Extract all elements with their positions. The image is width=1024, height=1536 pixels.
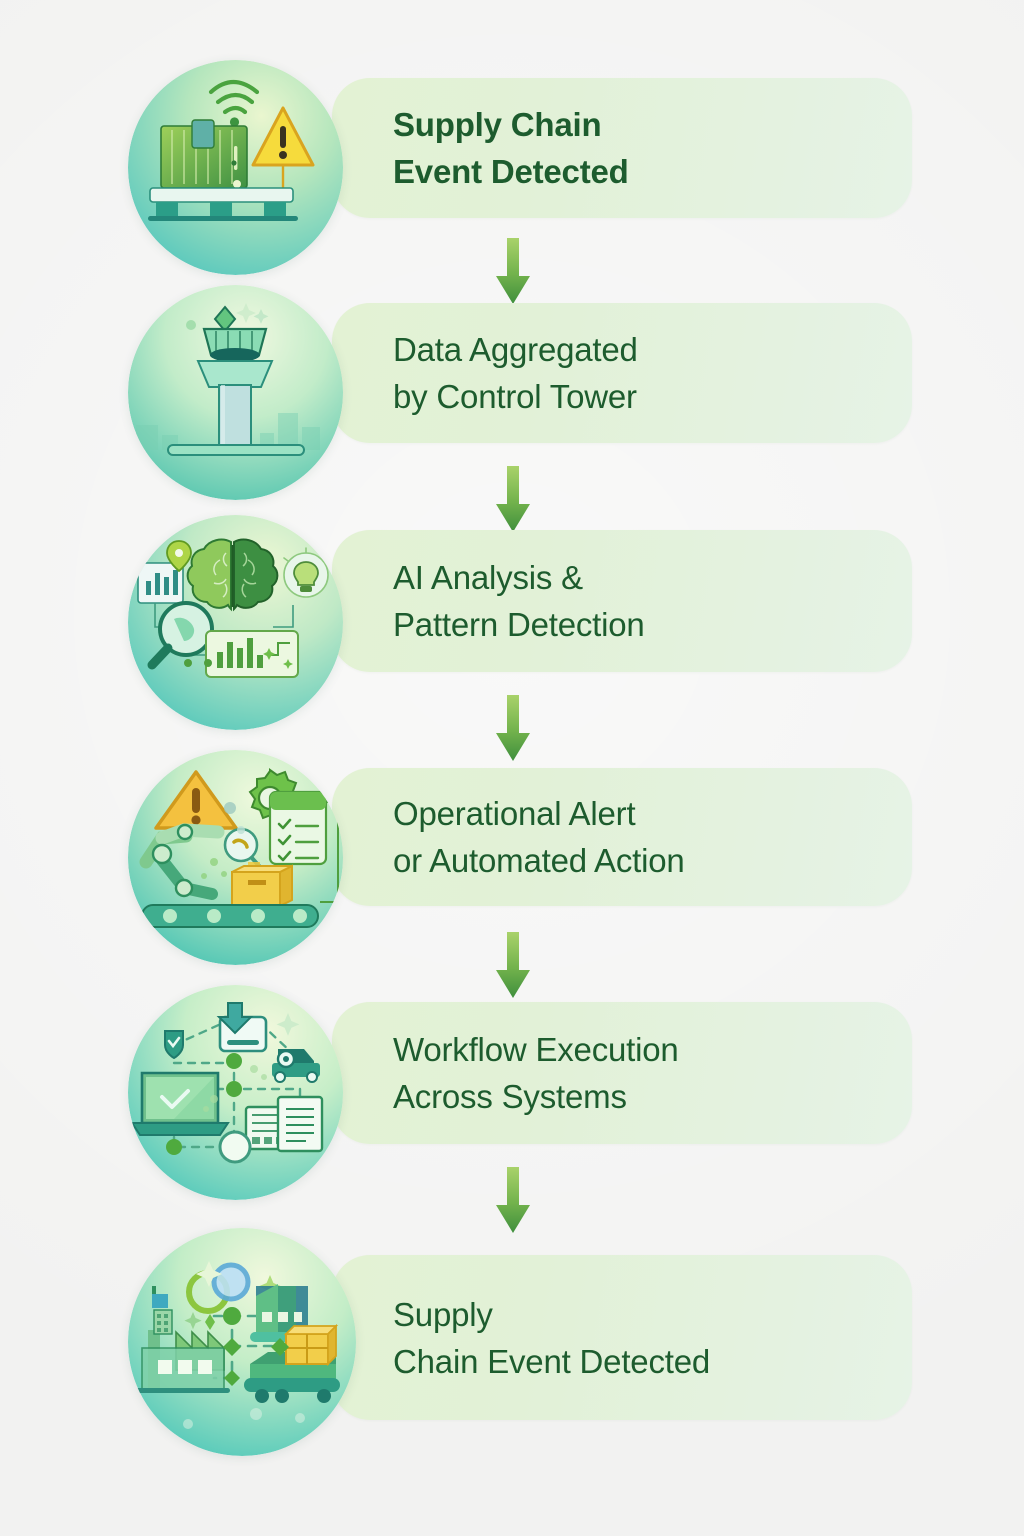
step-label-5: Workflow Execution Across Systems: [393, 1026, 679, 1120]
step-card-4[interactable]: Operational Alert or Automated Action: [332, 768, 912, 906]
supply-network-icon: [128, 1228, 356, 1456]
step-label-1: Supply Chain Event Detected: [393, 101, 629, 195]
step-card-5[interactable]: Workflow Execution Across Systems: [332, 1002, 912, 1144]
connected-systems-workflow-icon: [128, 985, 343, 1200]
flow-arrow-4: [492, 932, 534, 998]
step-label-2: Data Aggregated by Control Tower: [393, 326, 638, 420]
step-label-4: Operational Alert or Automated Action: [393, 790, 685, 884]
step-card-3[interactable]: AI Analysis & Pattern Detection: [332, 530, 912, 672]
automation-alert-icon: [128, 750, 343, 965]
ai-brain-analytics-icon: [128, 515, 343, 730]
flow-arrow-1: [492, 238, 534, 304]
shipping-container-sensor-alert-icon: [128, 60, 343, 275]
control-tower-icon: [128, 285, 343, 500]
step-label-6: Supply Chain Event Detected: [393, 1291, 710, 1385]
flow-arrow-3: [492, 695, 534, 761]
process-flow-diagram: Supply Chain Event Detected: [0, 0, 1024, 1536]
step-label-3: AI Analysis & Pattern Detection: [393, 554, 645, 648]
step-card-1[interactable]: Supply Chain Event Detected: [332, 78, 912, 218]
step-card-6[interactable]: Supply Chain Event Detected: [332, 1255, 912, 1420]
step-card-2[interactable]: Data Aggregated by Control Tower: [332, 303, 912, 443]
flow-arrow-5: [492, 1167, 534, 1233]
flow-arrow-2: [492, 466, 534, 532]
